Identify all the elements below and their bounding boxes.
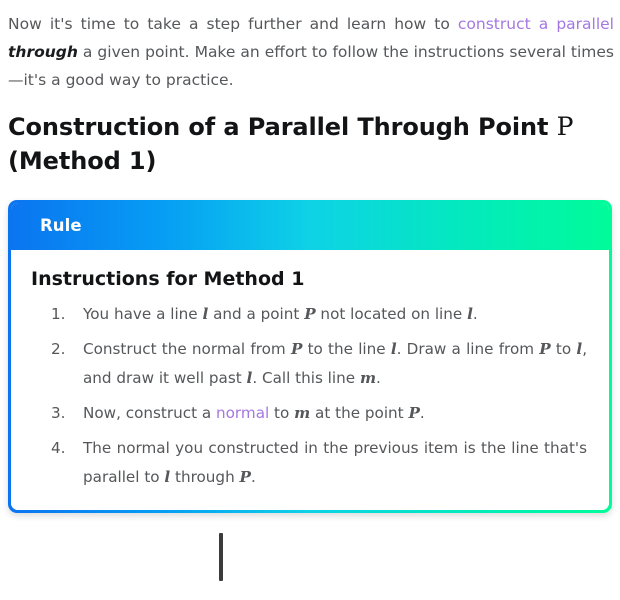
page-title-variable-p: P <box>557 112 574 141</box>
rule-card-body: Instructions for Method 1 You have a lin… <box>11 250 609 510</box>
normal-link[interactable]: normal <box>216 404 269 422</box>
step-text: Construct the normal from <box>83 340 291 358</box>
page-title: Construction of a Parallel Through Point… <box>0 110 620 178</box>
page-title-text-before: Construction of a Parallel Through Point <box>8 113 557 141</box>
math-variable-m: m <box>360 369 376 387</box>
intro-emphasis-through: through <box>8 43 78 61</box>
step-text: Now, construct a <box>83 404 216 422</box>
page-root: Now it's time to take a step further and… <box>0 0 620 600</box>
intro-paragraph: Now it's time to take a step further and… <box>0 0 620 94</box>
rule-card: Rule Instructions for Method 1 You have … <box>8 200 612 513</box>
step-text: through <box>170 468 239 486</box>
math-variable-P: P <box>539 340 550 358</box>
step-text: . Call this line <box>252 369 360 387</box>
instruction-step: You have a line l and a point P not loca… <box>25 300 595 329</box>
step-text: . <box>376 369 381 387</box>
rule-card-inner: Rule Instructions for Method 1 You have … <box>11 203 609 510</box>
math-variable-P: P <box>240 468 251 486</box>
math-variable-P: P <box>408 404 419 422</box>
page-title-text-after: (Method 1) <box>8 147 156 175</box>
step-text: . <box>420 404 425 422</box>
math-variable-m: m <box>294 404 310 422</box>
step-text: to the line <box>302 340 390 358</box>
instruction-step: Now, construct a normal to m at the poin… <box>25 399 595 428</box>
step-text: The normal you constructed in the previo… <box>83 439 587 486</box>
rule-card-header: Rule <box>11 203 609 250</box>
step-text: . <box>473 305 478 323</box>
rule-subtitle: Instructions for Method 1 <box>25 264 595 294</box>
step-text: . Draw a line from <box>397 340 540 358</box>
figure-vertical-line <box>219 533 223 581</box>
instruction-step: The normal you constructed in the previo… <box>25 434 595 492</box>
intro-text-segment-1: Now it's time to take a step further and… <box>8 15 458 33</box>
step-text: . <box>251 468 256 486</box>
math-variable-P: P <box>304 305 315 323</box>
rule-header-label: Rule <box>40 216 82 235</box>
intro-text-segment-3: a given point. Make an effort to follow … <box>8 43 614 89</box>
figure-area <box>0 513 620 575</box>
math-variable-P: P <box>291 340 302 358</box>
step-text: not located on line <box>316 305 467 323</box>
step-text: You have a line <box>83 305 202 323</box>
instruction-steps-list: You have a line l and a point P not loca… <box>25 300 595 492</box>
construct-a-parallel-link[interactable]: construct a parallel <box>458 15 614 33</box>
step-text: and a point <box>208 305 304 323</box>
step-text: to <box>269 404 294 422</box>
step-text: to <box>551 340 577 358</box>
step-text: at the point <box>310 404 408 422</box>
instruction-step: Construct the normal from P to the line … <box>25 335 595 393</box>
